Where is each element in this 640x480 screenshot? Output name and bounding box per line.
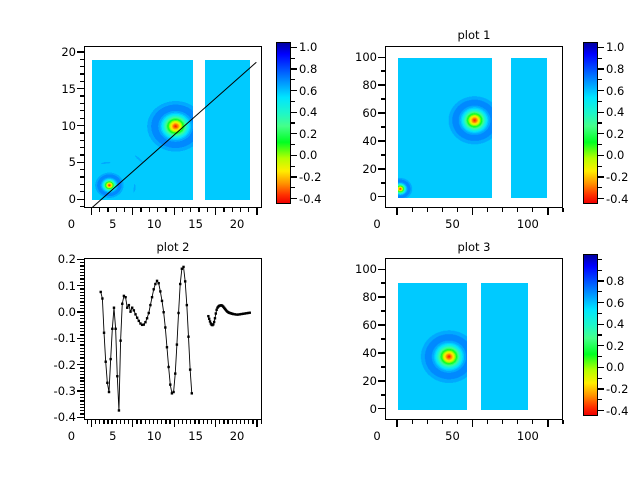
colorbar-tick-label: 0.6 [606, 85, 640, 97]
x-axis-major-tick [174, 420, 175, 427]
x-axis-minor-tick [165, 208, 166, 212]
heatmap-patch [205, 60, 250, 200]
x-axis-tick-label: 10 [134, 430, 174, 442]
x-axis-minor-tick [207, 208, 208, 212]
y-axis-major-tick [378, 140, 385, 141]
y-axis-major-tick [77, 125, 84, 126]
x-axis-minor-tick [487, 208, 488, 212]
y-axis-major-tick [77, 259, 84, 260]
x-axis-minor-tick [412, 208, 413, 212]
y-axis-minor-tick [80, 272, 84, 273]
y-axis-minor-tick [80, 348, 84, 349]
x-axis-minor-tick [502, 208, 503, 212]
colorbar-tick-label: -0.4 [606, 193, 640, 205]
y-axis-minor-tick [80, 315, 84, 316]
y-axis-minor-tick [80, 321, 84, 322]
colorbar [583, 254, 598, 416]
y-axis-tick-label: 0.0 [34, 306, 76, 318]
y-axis-tick-label: 0.2 [34, 253, 76, 265]
x-axis-minor-tick [487, 420, 488, 424]
y-axis-tick-label: -0.4 [34, 411, 76, 423]
x-axis-minor-tick [169, 420, 170, 424]
y-axis-minor-tick [80, 169, 84, 170]
data-point-marker [138, 320, 140, 322]
data-point-marker [213, 321, 215, 323]
y-axis-major-tick [77, 285, 84, 286]
data-point-marker [111, 328, 113, 330]
y-axis-minor-tick [80, 380, 84, 381]
x-axis-minor-tick [532, 420, 533, 424]
x-axis-minor-tick [211, 420, 212, 424]
y-axis-minor-tick [80, 59, 84, 60]
x-axis-minor-tick [232, 208, 233, 212]
colorbar-minor-tick [291, 101, 295, 102]
x-axis-minor-tick [248, 208, 249, 212]
data-point-marker [133, 309, 135, 311]
y-axis-minor-tick [80, 357, 84, 358]
y-axis-major-tick [378, 269, 385, 270]
y-axis-minor-tick [80, 191, 84, 192]
y-axis-minor-tick [80, 154, 84, 155]
y-axis-minor-tick [80, 334, 84, 335]
heatmap-layer [386, 259, 562, 419]
y-axis-minor-tick [80, 354, 84, 355]
data-point-marker [208, 318, 210, 320]
colorbar-major-tick [291, 176, 297, 177]
x-axis-tick-label: 20 [217, 430, 257, 442]
data-point-marker [184, 280, 186, 282]
x-axis-tick-label: 10 [134, 218, 174, 230]
colorbar-major-tick [598, 68, 604, 69]
data-point-marker [106, 382, 108, 384]
data-point-marker [108, 391, 110, 393]
x-axis-minor-tick [124, 420, 125, 424]
y-axis-major-tick [77, 88, 84, 89]
x-axis-major-tick [174, 208, 175, 215]
colorbar-tick-label: -0.4 [606, 405, 640, 417]
x-axis-minor-tick [502, 420, 503, 424]
colorbar-minor-tick [598, 187, 602, 188]
heatmap-patch [398, 58, 492, 198]
x-axis-minor-tick [427, 208, 428, 212]
data-point-marker [118, 409, 120, 411]
x-axis-minor-tick [223, 208, 224, 212]
colorbar-minor-tick [598, 259, 602, 260]
x-axis-minor-tick [562, 208, 563, 212]
x-axis-major-tick [396, 420, 397, 427]
y-axis-minor-tick [80, 103, 84, 104]
y-axis-minor-tick [80, 298, 84, 299]
y-axis-major-tick [77, 338, 84, 339]
colorbar-tick-label: 0.8 [606, 275, 640, 287]
data-point-marker [212, 323, 214, 325]
x-axis-minor-tick [136, 420, 137, 424]
colorbar-tick-label: -0.2 [606, 171, 640, 183]
heatmap-image [205, 60, 250, 200]
x-axis-tick-label: 0 [51, 430, 91, 442]
y-axis-minor-tick [80, 295, 84, 296]
x-axis-major-tick [547, 420, 548, 427]
colorbar-major-tick [598, 112, 604, 113]
y-axis-minor-tick [80, 413, 84, 414]
x-axis-major-tick [132, 420, 133, 427]
colorbar-tick-label: 0.4 [606, 106, 640, 118]
data-point-marker [119, 339, 121, 341]
x-axis-tick-label: 50 [432, 430, 472, 442]
y-axis-minor-tick [80, 132, 84, 133]
x-axis-minor-tick [261, 420, 262, 424]
x-axis-minor-tick [240, 208, 241, 212]
x-axis-minor-tick [186, 420, 187, 424]
colorbar-major-tick [291, 47, 297, 48]
colorbar-major-tick [291, 198, 297, 199]
x-axis-tick-label: 15 [176, 430, 216, 442]
y-axis-minor-tick [80, 410, 84, 411]
data-point-marker [100, 291, 102, 293]
x-axis-minor-tick [562, 420, 563, 424]
data-point-marker [215, 309, 217, 311]
data-point-marker [167, 366, 169, 368]
x-axis-minor-tick [532, 208, 533, 212]
y-axis-minor-tick [80, 361, 84, 362]
x-axis-major-tick [472, 420, 473, 427]
x-axis-major-tick [132, 208, 133, 215]
data-point-marker [214, 317, 216, 319]
y-axis-minor-tick [80, 331, 84, 332]
colorbar-tick-label: 0.2 [606, 340, 640, 352]
y-axis-minor-tick [381, 282, 385, 283]
y-axis-minor-tick [80, 140, 84, 141]
x-axis-minor-tick [232, 420, 233, 424]
heatmap-patch [398, 283, 467, 409]
x-axis-minor-tick [128, 420, 129, 424]
y-axis-major-tick [77, 162, 84, 163]
plot-area-4 [385, 258, 563, 420]
x-axis-minor-tick [219, 420, 220, 424]
x-axis-minor-tick [103, 420, 104, 424]
colorbar-minor-tick [291, 79, 295, 80]
data-point-marker [101, 297, 103, 299]
y-axis-major-tick [378, 57, 385, 58]
y-axis-minor-tick [381, 182, 385, 183]
x-axis-minor-tick [244, 420, 245, 424]
colorbar-tick-label: 0.2 [606, 128, 640, 140]
data-point-marker [179, 283, 181, 285]
x-axis-major-tick [91, 208, 92, 215]
x-axis-major-tick [547, 208, 548, 215]
data-point-marker [136, 317, 138, 319]
data-point-marker [129, 310, 131, 312]
data-point-marker [172, 391, 174, 393]
x-axis-minor-tick [190, 208, 191, 212]
x-axis-tick-label: 50 [432, 218, 472, 230]
y-axis-tick-label: 0 [34, 193, 76, 205]
x-axis-major-tick [256, 420, 257, 427]
y-axis-tick-label: 100 [335, 263, 377, 275]
y-axis-minor-tick [80, 387, 84, 388]
y-axis-minor-tick [80, 265, 84, 266]
y-axis-minor-tick [381, 310, 385, 311]
y-axis-tick-label: 0 [335, 191, 377, 203]
heatmap-image [511, 58, 547, 198]
colorbar-minor-tick [598, 101, 602, 102]
data-point-marker [144, 321, 146, 323]
colorbar-minor-tick [598, 399, 602, 400]
y-axis-minor-tick [381, 98, 385, 99]
data-point-marker [249, 312, 251, 314]
y-axis-tick-label: 100 [335, 51, 377, 63]
colorbar-major-tick [598, 324, 604, 325]
y-axis-minor-tick [80, 305, 84, 306]
figure-canvas: 05101520051015201.00.80.60.40.20.0-0.2-0… [0, 0, 640, 480]
x-axis-minor-tick [120, 420, 121, 424]
colorbar-minor-tick [291, 144, 295, 145]
colorbar-minor-tick [598, 166, 602, 167]
x-axis-minor-tick [165, 420, 166, 424]
x-axis-minor-tick [442, 208, 443, 212]
y-axis-tick-label: 80 [335, 291, 377, 303]
x-axis-minor-tick [107, 208, 108, 212]
y-axis-minor-tick [80, 184, 84, 185]
data-point-marker [109, 358, 111, 360]
colorbar-minor-tick [598, 378, 602, 379]
x-axis-minor-tick [457, 208, 458, 212]
y-axis-major-tick [378, 296, 385, 297]
colorbar-minor-tick [598, 79, 602, 80]
data-point-marker [157, 282, 159, 284]
data-point-marker [143, 323, 145, 325]
colorbar-tick-label: 0.4 [606, 318, 640, 330]
colorbar-gradient [277, 43, 290, 203]
colorbar-major-tick [598, 47, 604, 48]
plot-area-3 [84, 258, 262, 420]
colorbar-tick-label: -0.2 [606, 383, 640, 395]
x-axis-minor-tick [182, 208, 183, 212]
x-axis-minor-tick [203, 420, 204, 424]
x-axis-tick-label: 0 [357, 430, 397, 442]
y-axis-minor-tick [80, 118, 84, 119]
x-axis-tick-label: 20 [217, 218, 257, 230]
x-axis-major-tick [215, 208, 216, 215]
x-axis-minor-tick [140, 420, 141, 424]
data-point-marker [186, 304, 188, 306]
data-point-marker [131, 307, 133, 309]
colorbar-minor-tick [291, 187, 295, 188]
x-axis-minor-tick [412, 420, 413, 424]
y-axis-minor-tick [381, 366, 385, 367]
y-axis-tick-label: 10 [34, 120, 76, 132]
colorbar-major-tick [598, 280, 604, 281]
x-axis-major-tick [215, 420, 216, 427]
x-axis-minor-tick [198, 420, 199, 424]
x-axis-tick-label: 5 [93, 218, 133, 230]
x-axis-minor-tick [149, 208, 150, 212]
x-axis-minor-tick [182, 420, 183, 424]
heatmap-patch [481, 283, 528, 409]
data-point-marker [128, 304, 130, 306]
data-point-marker [189, 368, 191, 370]
x-axis-major-tick [472, 208, 473, 215]
y-axis-tick-label: 20 [335, 375, 377, 387]
x-axis-minor-tick [178, 420, 179, 424]
x-axis-minor-tick [111, 420, 112, 424]
x-axis-minor-tick [517, 420, 518, 424]
data-point-marker [169, 383, 171, 385]
colorbar [276, 42, 291, 204]
x-axis-minor-tick [153, 420, 154, 424]
y-axis-major-tick [378, 352, 385, 353]
data-point-marker [113, 307, 115, 309]
y-axis-tick-label: 40 [335, 135, 377, 147]
y-axis-tick-label: 0 [335, 403, 377, 415]
colorbar-major-tick [291, 112, 297, 113]
line-series-layer [85, 259, 262, 420]
x-axis-minor-tick [161, 420, 162, 424]
y-axis-minor-tick [80, 66, 84, 67]
colorbar-major-tick [598, 155, 604, 156]
y-axis-minor-tick [381, 394, 385, 395]
heatmap-layer [386, 47, 562, 207]
y-axis-major-tick [77, 390, 84, 391]
data-point-marker [149, 304, 151, 306]
colorbar-major-tick [291, 155, 297, 156]
x-axis-minor-tick [157, 208, 158, 212]
y-axis-minor-tick [80, 404, 84, 405]
y-axis-tick-label: 15 [34, 83, 76, 95]
y-axis-tick-label: 5 [34, 156, 76, 168]
y-axis-major-tick [378, 380, 385, 381]
colorbar-tick-label: 0.8 [606, 63, 640, 75]
y-axis-minor-tick [80, 147, 84, 148]
colorbar [583, 42, 598, 204]
colorbar-tick-label: 0.0 [606, 361, 640, 373]
x-axis-tick-label: 15 [176, 218, 216, 230]
line-path [101, 267, 192, 411]
colorbar-tick-label: 0.0 [299, 149, 345, 161]
y-axis-minor-tick [80, 377, 84, 378]
x-axis-tick-label: 0 [357, 218, 397, 230]
x-axis-minor-tick [190, 420, 191, 424]
y-axis-minor-tick [381, 126, 385, 127]
y-axis-minor-tick [80, 73, 84, 74]
y-axis-major-tick [77, 51, 84, 52]
x-axis-minor-tick [149, 420, 150, 424]
data-point-marker [191, 392, 193, 394]
x-axis-minor-tick [99, 420, 100, 424]
x-axis-minor-tick [223, 420, 224, 424]
y-axis-major-tick [378, 324, 385, 325]
y-axis-major-tick [77, 364, 84, 365]
x-axis-minor-tick [157, 420, 158, 424]
data-point-marker [177, 312, 179, 314]
x-axis-minor-tick [427, 420, 428, 424]
y-axis-minor-tick [80, 367, 84, 368]
x-axis-minor-tick [116, 420, 117, 424]
y-axis-minor-tick [80, 282, 84, 283]
heatmap-image [481, 283, 528, 409]
data-point-marker [209, 320, 211, 322]
plot-area-1 [84, 46, 262, 208]
x-axis-minor-tick [248, 420, 249, 424]
y-axis-minor-tick [80, 351, 84, 352]
y-axis-minor-tick [80, 384, 84, 385]
data-point-marker [116, 375, 118, 377]
data-point-marker [114, 328, 116, 330]
data-point-marker [174, 372, 176, 374]
data-point-marker [103, 332, 105, 334]
colorbar-minor-tick [598, 356, 602, 357]
x-axis-minor-tick [116, 208, 117, 212]
x-axis-minor-tick [95, 420, 96, 424]
x-axis-major-tick [396, 208, 397, 215]
data-point-marker [176, 343, 178, 345]
y-axis-minor-tick [80, 269, 84, 270]
y-axis-tick-label: 0.1 [34, 280, 76, 292]
x-axis-minor-tick [145, 420, 146, 424]
data-point-marker [207, 315, 209, 317]
panel-title: plot 1 [404, 29, 544, 42]
colorbar-tick-label: 1.0 [606, 41, 640, 53]
y-axis-minor-tick [381, 338, 385, 339]
y-axis-minor-tick [80, 344, 84, 345]
y-axis-minor-tick [381, 70, 385, 71]
data-point-marker [161, 300, 163, 302]
panel-title: plot 2 [103, 241, 243, 254]
data-point-marker [146, 317, 148, 319]
y-axis-minor-tick [80, 374, 84, 375]
colorbar-minor-tick [598, 313, 602, 314]
y-axis-tick-label: -0.2 [34, 359, 76, 371]
colorbar-major-tick [598, 410, 604, 411]
x-axis-tick-label: 100 [508, 218, 548, 230]
colorbar-major-tick [291, 68, 297, 69]
y-axis-minor-tick [80, 288, 84, 289]
data-point-marker [164, 326, 166, 328]
y-axis-tick-label: 20 [335, 163, 377, 175]
y-axis-tick-label: 80 [335, 79, 377, 91]
panel-title: plot 3 [404, 241, 544, 254]
plot-area-2 [385, 46, 563, 208]
y-axis-tick-label: 60 [335, 319, 377, 331]
data-point-marker [134, 313, 136, 315]
data-point-marker [126, 307, 128, 309]
colorbar-major-tick [598, 345, 604, 346]
data-point-marker [154, 283, 156, 285]
y-axis-minor-tick [80, 397, 84, 398]
y-axis-minor-tick [80, 176, 84, 177]
data-point-marker [156, 280, 158, 282]
y-axis-minor-tick [80, 394, 84, 395]
data-point-marker [105, 361, 107, 363]
colorbar-minor-tick [291, 166, 295, 167]
colorbar-major-tick [598, 198, 604, 199]
x-axis-minor-tick [87, 420, 88, 424]
colorbar-gradient [584, 255, 597, 415]
y-axis-minor-tick [80, 318, 84, 319]
x-axis-minor-tick [240, 420, 241, 424]
y-axis-minor-tick [80, 400, 84, 401]
y-axis-minor-tick [80, 81, 84, 82]
x-axis-tick-label: 5 [93, 430, 133, 442]
y-axis-minor-tick [80, 308, 84, 309]
y-axis-tick-label: 60 [335, 107, 377, 119]
colorbar-minor-tick [598, 334, 602, 335]
y-axis-major-tick [77, 417, 84, 418]
y-axis-minor-tick [80, 371, 84, 372]
x-axis-major-tick [91, 420, 92, 427]
y-axis-major-tick [378, 84, 385, 85]
x-axis-minor-tick [124, 208, 125, 212]
